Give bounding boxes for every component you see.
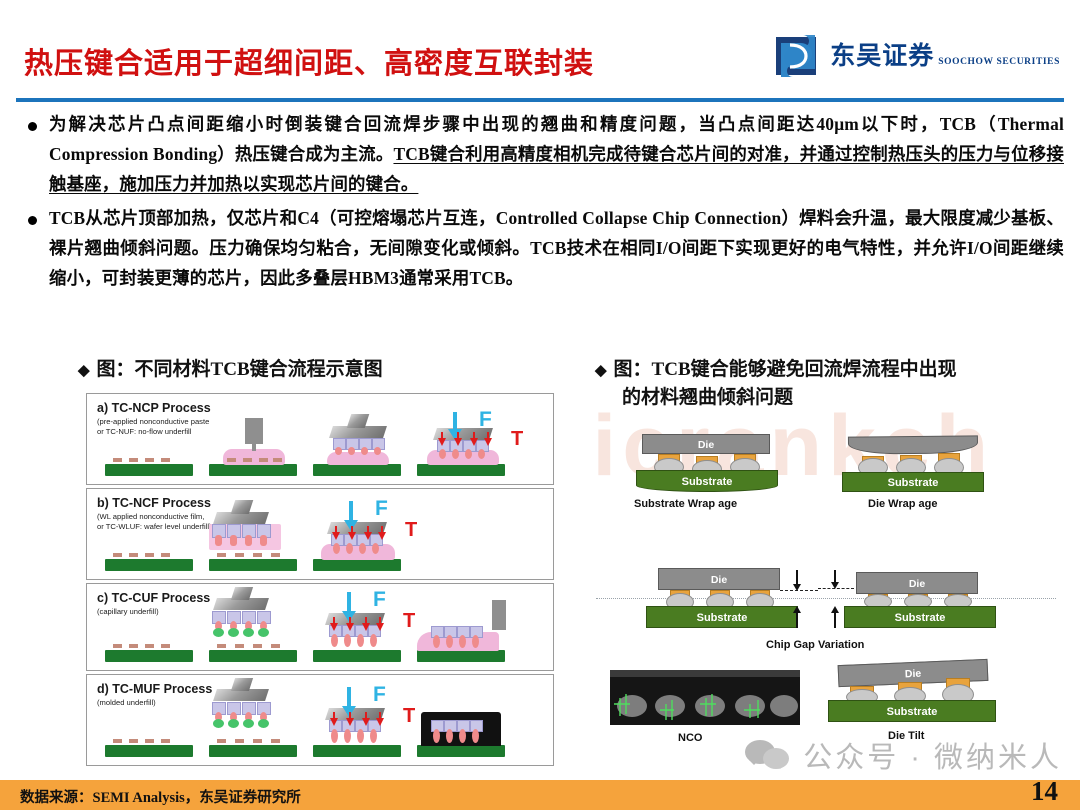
pad	[273, 458, 282, 462]
substrate	[209, 559, 297, 571]
solder-bump	[478, 449, 485, 459]
flux-bump	[243, 719, 254, 728]
panel-b-title: b) TC-NCF Process	[97, 496, 211, 510]
heat-arrow-icon	[330, 623, 338, 631]
bullet-dot-icon	[28, 122, 37, 131]
flux-bump	[213, 719, 224, 728]
pad	[243, 458, 252, 462]
substrate	[105, 745, 193, 757]
substrate	[313, 745, 401, 757]
solder-bump	[433, 635, 440, 648]
pad	[145, 644, 154, 648]
panel-c-title: c) TC-CUF Process	[97, 591, 210, 605]
substrate	[105, 464, 193, 476]
panel-a-title: a) TC-NCP Process	[97, 401, 211, 415]
solder-bump	[357, 634, 364, 647]
pad	[271, 644, 280, 648]
pad	[129, 553, 138, 557]
pad	[129, 739, 138, 743]
pad	[227, 458, 236, 462]
diamond-bullet-icon: ◆	[78, 363, 90, 379]
left-figure-caption-text: 图：不同材料TCB键合流程示意图	[97, 359, 383, 380]
heat-arrow-icon	[346, 623, 354, 631]
pad	[129, 644, 138, 648]
panel-a-subtitle: (pre-applied nonconductive paste or TC-N…	[97, 417, 209, 437]
heat-arrow-icon	[362, 623, 370, 631]
substrate	[105, 650, 193, 662]
substrate	[313, 559, 401, 571]
pad	[271, 739, 280, 743]
die-label: Die	[643, 440, 769, 451]
flux-bump	[258, 628, 269, 637]
heat-arrow-icon	[362, 718, 370, 726]
heat-arrow-icon	[470, 438, 478, 446]
solder-bump	[459, 635, 466, 648]
solder-bump	[344, 634, 351, 647]
pad	[161, 644, 170, 648]
gap-arrow-down-icon	[793, 584, 801, 591]
left-figure-tcb-process-diagram: a) TC-NCP Process (pre-applied nonconduc…	[86, 393, 554, 775]
solder-bump	[245, 535, 252, 546]
header-divider	[16, 98, 1064, 102]
substrate	[417, 650, 505, 662]
pad	[235, 553, 244, 557]
force-label-F: F	[479, 408, 492, 432]
heat-arrow-icon	[376, 623, 384, 631]
substrate	[209, 464, 297, 476]
page-title: 热压键合适用于超细间距、高密度互联封装	[24, 40, 594, 82]
pad	[145, 739, 154, 743]
data-source-text: 数据来源：SEMI Analysis，东吴证券研究所	[20, 786, 301, 807]
heat-arrow-icon	[348, 532, 356, 540]
force-label-F: F	[373, 683, 386, 707]
heat-arrow-icon	[330, 718, 338, 726]
solder-bump	[433, 729, 440, 743]
panel-tc-cuf: c) TC-CUF Process (capillary underfill)	[86, 583, 554, 671]
pad	[145, 458, 154, 462]
panel-d-subtitle: (molded underfill)	[97, 698, 156, 708]
right-figure-caption: ◆图：TCB键合能够避免回流焊流程中出现 的材料翘曲倾斜问题	[595, 356, 1025, 411]
substrate	[209, 650, 297, 662]
bullet-text-1: 为解决芯片凸点间距缩小时倒装键合回流焊步骤中出现的翘曲和精度问题，当凸点间距达4…	[49, 110, 1064, 200]
logo-text-en: SOOCHOW SECURITIES	[938, 57, 1060, 67]
substrate-label: Substrate	[647, 613, 797, 624]
flux-bump	[243, 628, 254, 637]
solder-bump	[446, 729, 453, 743]
force-arrow-stem	[347, 592, 351, 612]
gap-arrow-stem	[834, 612, 836, 628]
panel-tc-ncp: a) TC-NCP Process (pre-applied nonconduc…	[86, 393, 554, 485]
panel-c-subtitle: (capillary underfill)	[97, 607, 159, 617]
flux-bump	[213, 628, 224, 637]
solder-bump	[331, 634, 338, 647]
pad	[113, 644, 122, 648]
brand-logo: 东吴证券 SOOCHOW SECURITIES	[775, 33, 1060, 79]
ncp-paste	[427, 450, 499, 465]
pad	[129, 458, 138, 462]
die-tilt-label: Die Tilt	[888, 730, 924, 742]
solder-bump	[370, 634, 377, 647]
substrate-block: Substrate	[828, 700, 996, 722]
die-block: Die	[642, 434, 770, 454]
pad	[113, 553, 122, 557]
force-label-F: F	[373, 588, 386, 612]
heat-arrow-icon	[346, 718, 354, 726]
solder-bump	[370, 729, 377, 743]
temp-label-T: T	[405, 519, 417, 542]
dispenser-tool	[492, 600, 506, 630]
force-arrow-stem	[349, 501, 353, 521]
soochow-logo-icon	[775, 33, 821, 79]
solder-bump	[359, 543, 366, 554]
pad	[217, 739, 226, 743]
right-figure-warpage-diagram: Die Substrate Substrate Wrap age Substra…	[600, 420, 1052, 770]
pad	[253, 553, 262, 557]
pad	[271, 553, 280, 557]
pad	[113, 739, 122, 743]
solder-bump	[374, 447, 381, 455]
solder-bump	[452, 449, 459, 459]
substrate	[313, 464, 401, 476]
pad	[161, 458, 170, 462]
solder-bump	[331, 729, 338, 743]
footer-bar: 数据来源：SEMI Analysis，东吴证券研究所 14	[0, 780, 1080, 810]
solder-bump	[348, 447, 355, 455]
nco-label: NCO	[678, 732, 702, 744]
gap-arrow-up-icon	[831, 606, 839, 613]
pad	[259, 458, 268, 462]
solder-bump	[357, 729, 364, 743]
substrate-label: Substrate	[843, 478, 983, 489]
substrate	[417, 745, 505, 757]
die-warpage-label: Die Wrap age	[868, 498, 938, 510]
heat-arrow-icon	[376, 718, 384, 726]
dispenser-tool	[245, 418, 263, 444]
solder-bump	[472, 729, 479, 743]
bullet-item-1: 为解决芯片凸点间距缩小时倒装键合回流焊步骤中出现的翘曲和精度问题，当凸点间距达4…	[20, 110, 1064, 200]
gap-arrow-down-icon	[831, 582, 839, 589]
die-block-warped	[848, 435, 978, 454]
pad	[253, 644, 262, 648]
flux-bump	[228, 628, 239, 637]
page-number: 14	[1031, 776, 1058, 807]
ncp-paste	[223, 449, 285, 465]
temp-label-T: T	[403, 610, 415, 633]
right-figure-caption-line1: 图：TCB键合能够避免回流焊流程中出现	[614, 359, 957, 380]
solder-bump	[446, 635, 453, 648]
solder-bump	[465, 449, 472, 459]
solder-bump	[472, 635, 479, 648]
substrate-block: Substrate	[842, 472, 984, 492]
flux-bump	[258, 719, 269, 728]
die-label: Die	[857, 579, 977, 590]
heat-arrow-icon	[454, 438, 462, 446]
panel-tc-muf: d) TC-MUF Process (molded underfill)	[86, 674, 554, 766]
reference-dashed-line	[596, 598, 1056, 599]
chip-gap-variation-label: Chip Gap Variation	[766, 639, 864, 651]
pad	[145, 553, 154, 557]
die-block: Die	[658, 568, 780, 590]
substrate-warpage-label: Substrate Wrap age	[634, 498, 737, 510]
pad	[253, 739, 262, 743]
solder-bump	[346, 543, 353, 554]
die-label: Die	[659, 575, 779, 586]
logo-text-cn: 东吴证券	[830, 43, 934, 70]
right-figure-caption-line2: 的材料翘曲倾斜问题	[595, 384, 1025, 412]
force-arrow-stem	[453, 412, 457, 430]
body-content: 为解决芯片凸点间距缩小时倒装键合回流焊步骤中出现的翘曲和精度问题，当凸点间距达4…	[20, 110, 1064, 298]
solder-bump	[230, 535, 237, 546]
substrate-label: Substrate	[829, 707, 995, 718]
solder-bump	[372, 543, 379, 554]
substrate-block: Substrate	[646, 606, 798, 628]
bullet-text-2: TCB从芯片顶部加热，仅芯片和C4（可控熔塌芯片互连，Controlled Co…	[49, 204, 1064, 294]
force-label-F: F	[375, 497, 388, 521]
solder-bump	[260, 535, 267, 546]
nco-xray-image	[610, 670, 800, 725]
temp-label-T: T	[403, 705, 415, 728]
solder-bump	[439, 449, 446, 459]
panel-tc-ncf: b) TC-NCF Process (WL applied nonconduct…	[86, 488, 554, 580]
substrate-label: Substrate	[845, 613, 995, 624]
solder-bump	[335, 447, 342, 455]
flux-bump	[228, 719, 239, 728]
pad	[235, 644, 244, 648]
pad	[161, 739, 170, 743]
substrate-block: Substrate	[844, 606, 996, 628]
left-figure-caption: ◆图：不同材料TCB键合流程示意图	[78, 356, 383, 384]
panel-d-title: d) TC-MUF Process	[97, 682, 212, 696]
heat-arrow-icon	[484, 438, 492, 446]
substrate-label: Substrate	[637, 477, 777, 488]
heat-arrow-icon	[332, 532, 340, 540]
die-block: Die	[856, 572, 978, 594]
heat-arrow-icon	[438, 438, 446, 446]
temp-label-T: T	[511, 428, 523, 451]
pad	[217, 644, 226, 648]
substrate	[313, 650, 401, 662]
pad	[113, 458, 122, 462]
solder-bump	[361, 447, 368, 455]
bullet-dot-icon	[28, 216, 37, 225]
substrate-block-warped: Substrate	[636, 470, 778, 492]
substrate	[417, 464, 505, 476]
bullet-item-2: TCB从芯片顶部加热，仅芯片和C4（可控熔塌芯片互连，Controlled Co…	[20, 204, 1064, 294]
heat-arrow-icon	[378, 532, 386, 540]
dispenser-nozzle	[252, 443, 256, 451]
solder-bump	[215, 535, 222, 546]
pad	[161, 553, 170, 557]
logo-text-block: 东吴证券 SOOCHOW SECURITIES	[830, 44, 1060, 69]
pad	[217, 553, 226, 557]
force-arrow-stem	[347, 687, 351, 707]
solder-bump	[459, 729, 466, 743]
pad	[235, 739, 244, 743]
substrate	[209, 745, 297, 757]
panel-b-subtitle: (WL applied nonconductive film, or TC-WL…	[97, 512, 212, 532]
diamond-bullet-icon: ◆	[595, 363, 607, 379]
solder-bump	[344, 729, 351, 743]
heat-arrow-icon	[364, 532, 372, 540]
solder-bump	[333, 543, 340, 554]
substrate	[105, 559, 193, 571]
gap-arrow-up-icon	[793, 606, 801, 613]
gap-arrow-stem	[796, 612, 798, 628]
